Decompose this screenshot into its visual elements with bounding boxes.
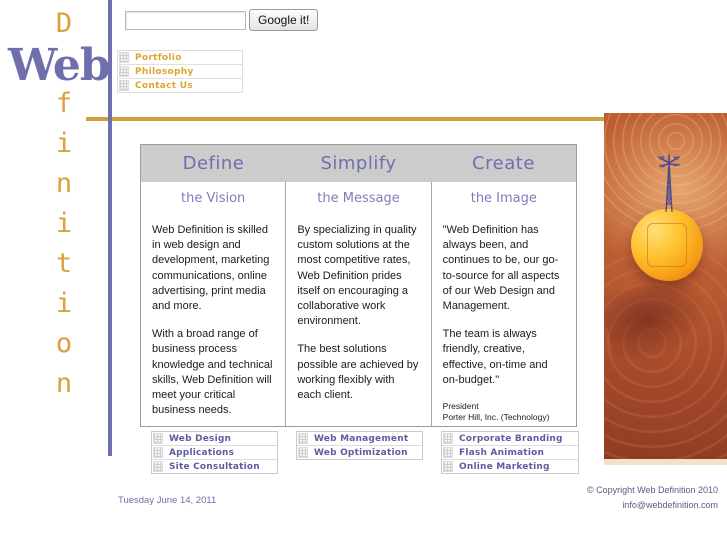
panel-heading: Simplify (320, 153, 396, 174)
vertical-letter-i3: i (46, 284, 82, 324)
panel-paragraph: By specializing in quality custom soluti… (297, 223, 419, 329)
panel-column-vision: the Vision Web Definition is skilled in … (141, 182, 286, 426)
artwork-bottom-strip (604, 459, 727, 465)
vertical-letter-n2: n (46, 364, 82, 404)
vertical-letter-o: o (46, 324, 82, 364)
grid-bullet-icon (298, 447, 308, 458)
vertical-letter-n1: n (46, 164, 82, 204)
panel-subheading: the Message (297, 191, 419, 206)
radio-tower-icon (656, 154, 682, 214)
hero-artwork-image (604, 113, 727, 465)
panel-header-define: Define (141, 145, 286, 182)
panel-heading: Define (183, 153, 245, 174)
service-link-web-management[interactable]: Web Management (297, 432, 422, 446)
logo-web: Web (8, 44, 110, 88)
panel-paragraph: With a broad range of business process k… (152, 327, 274, 418)
service-link-online-marketing[interactable]: Online Marketing (442, 460, 578, 473)
panel-column-message: the Message By specializing in quality c… (286, 182, 431, 426)
contact-email-link[interactable]: info@webdefinition.com (587, 498, 718, 513)
grid-bullet-icon (443, 447, 453, 458)
gold-horizontal-rule (86, 117, 604, 121)
service-label: Web Optimization (314, 448, 408, 458)
service-link-site-consultation[interactable]: Site Consultation (152, 460, 277, 473)
panel-header-row: Define Simplify Create (141, 145, 576, 182)
vertical-letter-i1: i (46, 124, 82, 164)
grid-bullet-icon (298, 433, 308, 444)
service-link-applications[interactable]: Applications (152, 446, 277, 460)
panel-paragraph: The team is always friendly, creative, e… (443, 327, 565, 388)
vertical-letter-d: D (46, 4, 82, 44)
grid-bullet-icon (443, 461, 453, 472)
nav-label: Portfolio (135, 53, 182, 63)
services-group-marketing: Corporate Branding Flash Animation Onlin… (441, 431, 579, 474)
vertical-letter-t: t (46, 244, 82, 284)
testimonial-title: President (443, 401, 565, 412)
grid-bullet-icon (119, 80, 129, 91)
panel-heading: Create (472, 153, 535, 174)
grid-bullet-icon (153, 461, 163, 472)
nav-item-contact-us[interactable]: Contact Us (118, 79, 242, 92)
grid-bullet-icon (153, 447, 163, 458)
panel-paragraph: "Web Definition has always been, and con… (443, 223, 565, 314)
page-root: D e f i n i t i o n Web Google it! Portf… (0, 0, 727, 545)
service-label: Web Management (314, 434, 408, 444)
panel-header-simplify: Simplify (286, 145, 431, 182)
service-link-corporate-branding[interactable]: Corporate Branding (442, 432, 578, 446)
nav-label: Contact Us (135, 81, 193, 91)
panel-paragraph: The best solutions possible are achieved… (297, 342, 419, 403)
panel-paragraph: Web Definition is skilled in web design … (152, 223, 274, 314)
content-panel: Define Simplify Create the Vision Web De… (140, 144, 577, 427)
copyright-text: © Copyright Web Definition 2010 (587, 483, 718, 498)
service-label: Web Design (169, 434, 231, 444)
service-link-web-design[interactable]: Web Design (152, 432, 277, 446)
footer-copyright-block: © Copyright Web Definition 2010 info@web… (587, 483, 718, 513)
service-link-web-optimization[interactable]: Web Optimization (297, 446, 422, 459)
grid-bullet-icon (119, 66, 129, 77)
nav-item-portfolio[interactable]: Portfolio (118, 51, 242, 65)
current-date: Tuesday June 14, 2011 (118, 495, 216, 506)
grid-bullet-icon (153, 433, 163, 444)
service-label: Flash Animation (459, 448, 544, 458)
panel-column-image: the Image "Web Definition has always bee… (432, 182, 576, 426)
service-label: Site Consultation (169, 462, 260, 472)
panel-header-create: Create (431, 145, 576, 182)
testimonial-company: Porter Hill, Inc. (Technology) (443, 412, 565, 423)
orange-globe-graphic (631, 209, 703, 281)
service-link-flash-animation[interactable]: Flash Animation (442, 446, 578, 460)
grid-bullet-icon (119, 52, 129, 63)
grid-bullet-icon (443, 433, 453, 444)
services-group-design: Web Design Applications Site Consultatio… (151, 431, 278, 474)
service-label: Online Marketing (459, 462, 550, 472)
panel-subheading: the Vision (152, 191, 274, 206)
vertical-letter-i2: i (46, 204, 82, 244)
google-search-button[interactable]: Google it! (249, 9, 318, 31)
services-group-management: Web Management Web Optimization (296, 431, 423, 460)
search-input[interactable] (125, 11, 246, 30)
panel-subheading: the Image (443, 191, 565, 206)
nav-label: Philosophy (135, 67, 194, 77)
panel-body-row: the Vision Web Definition is skilled in … (141, 182, 576, 426)
top-navigation: Portfolio Philosophy Contact Us (117, 50, 243, 93)
nav-item-philosophy[interactable]: Philosophy (118, 65, 242, 79)
service-label: Corporate Branding (459, 434, 563, 444)
service-label: Applications (169, 448, 234, 458)
